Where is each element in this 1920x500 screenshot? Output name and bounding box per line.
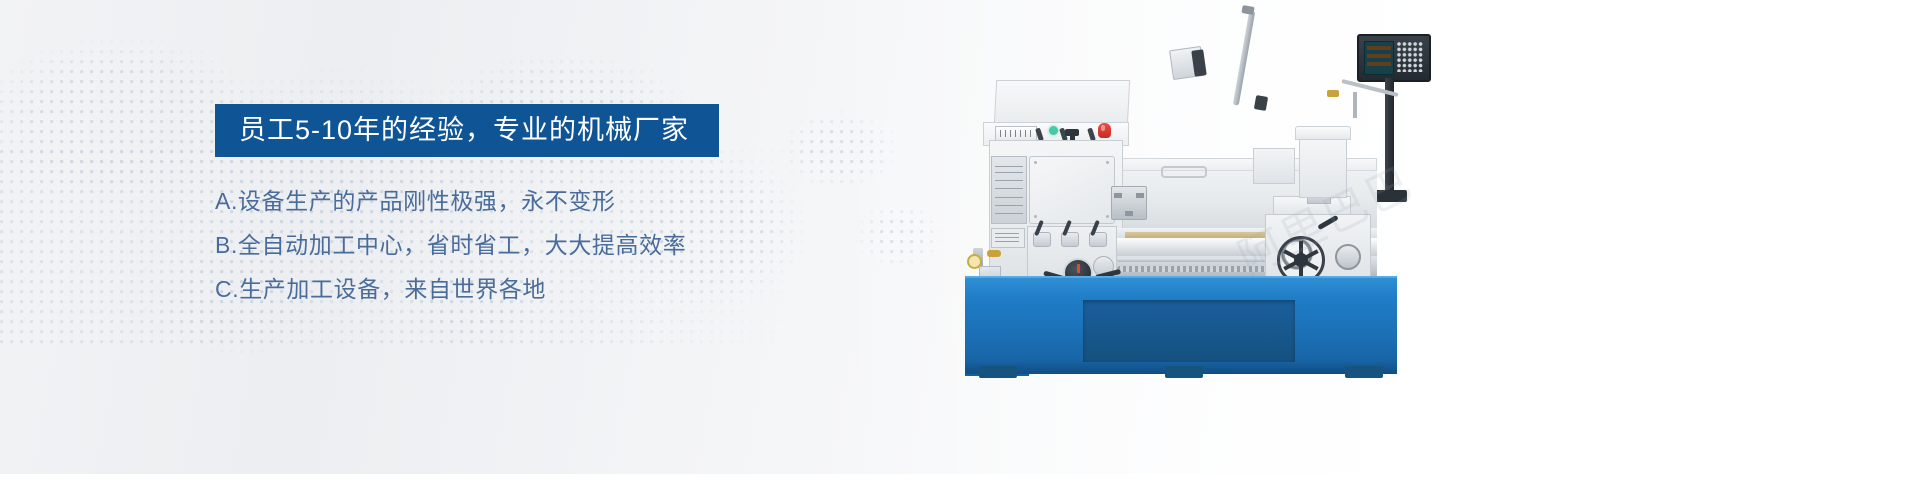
speed-chart-plate bbox=[991, 156, 1027, 224]
dro-screen bbox=[1364, 41, 1394, 75]
chuck-guard bbox=[994, 80, 1130, 126]
gearbox-access-door bbox=[1029, 156, 1115, 224]
promo-banner: 阿里巴巴 员工5-10年的经验，专业的机械厂家 A.设备生产的产品刚性极强，永不… bbox=[0, 0, 1920, 500]
machine-foot bbox=[1345, 366, 1383, 378]
emergency-stop-icon bbox=[1098, 123, 1111, 138]
machine-foot bbox=[1165, 366, 1203, 378]
start-button-icon bbox=[1049, 126, 1058, 135]
dro-keypad bbox=[1397, 42, 1424, 72]
overhead-rod-cap bbox=[1241, 5, 1254, 15]
oil-level-gauge bbox=[995, 126, 1037, 141]
coolant-nozzle-icon bbox=[1327, 90, 1339, 97]
coolant-stem bbox=[1353, 92, 1357, 118]
bed-cover-handle bbox=[1161, 166, 1207, 178]
machine-foot bbox=[979, 366, 1017, 378]
feature-item-c: C.生产加工设备，来自世界各地 bbox=[215, 267, 719, 311]
banner-text-block: 员工5-10年的经验，专业的机械厂家 A.设备生产的产品刚性极强，永不变形 B.… bbox=[215, 104, 719, 311]
lathe-chuck bbox=[1111, 186, 1147, 220]
feature-list: A.设备生产的产品刚性极强，永不变形 B.全自动加工中心，省时省工，大大提高效率… bbox=[215, 179, 719, 311]
work-lamp-shade bbox=[1191, 49, 1207, 76]
headline-bar: 员工5-10年的经验，专业的机械厂家 bbox=[215, 104, 719, 157]
white-floor-strip bbox=[0, 474, 1920, 500]
overhead-rod-joint bbox=[1254, 95, 1268, 111]
dro-display-icon bbox=[1357, 34, 1431, 82]
tailstock-cap bbox=[1295, 126, 1351, 140]
air-line-fitting bbox=[987, 250, 1001, 257]
overhead-rod bbox=[1233, 10, 1256, 106]
cabinet-recess bbox=[1083, 300, 1295, 362]
feature-item-b: B.全自动加工中心，省时省工，大大提高效率 bbox=[215, 223, 719, 267]
cross-feed-wheel bbox=[1335, 244, 1361, 270]
nameplate-label bbox=[991, 228, 1025, 248]
feature-item-a: A.设备生产的产品刚性极强，永不变形 bbox=[215, 179, 719, 223]
feed-motor-housing bbox=[1253, 148, 1295, 184]
headline-text: 员工5-10年的经验，专业的机械厂家 bbox=[239, 114, 689, 146]
